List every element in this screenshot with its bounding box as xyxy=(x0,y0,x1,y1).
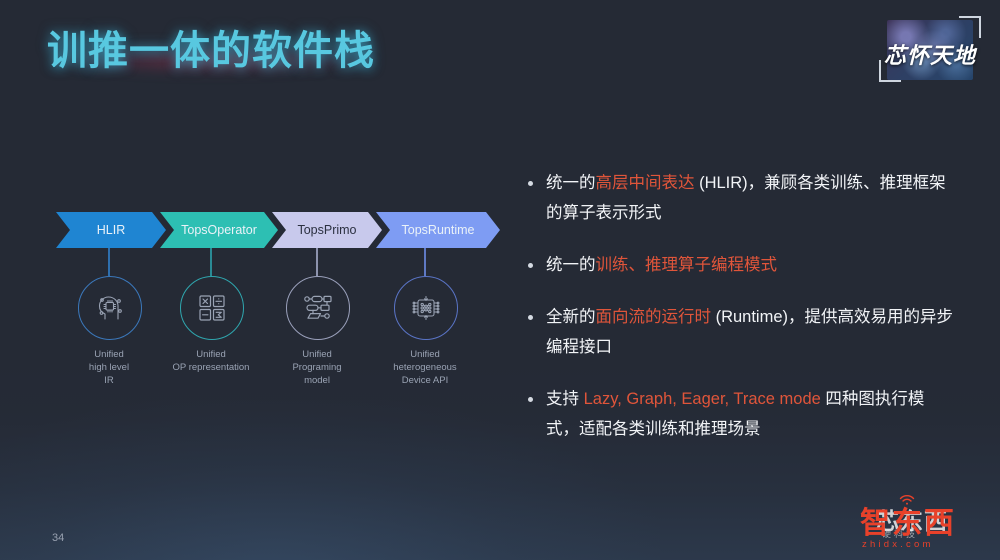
connector-line-topsoperator xyxy=(210,248,212,276)
bullet-marker-icon xyxy=(528,315,533,320)
brand-logo-text: 芯怀天地 xyxy=(875,38,985,70)
bullet-text: 支持 xyxy=(546,390,584,408)
connector-line-hlir xyxy=(108,248,110,276)
stage-icon-circle-topsruntime xyxy=(394,276,458,340)
bullet-text: 统一的 xyxy=(546,174,596,192)
stage-caption-line: heterogeneous xyxy=(355,361,495,374)
bullet-highlight-text: Lazy, Graph, Eager, Trace mode xyxy=(584,390,821,408)
bullet-highlight-text: 训练、推理算子编程模式 xyxy=(596,256,778,274)
bullet-list: 统一的高层中间表达 (HLIR)，兼顾各类训练、推理框架的算子表示形式统一的训练… xyxy=(524,168,954,444)
bullet-marker-icon xyxy=(528,263,533,268)
watermark: 芯东西 硬科技 智东西 zhidx.com xyxy=(856,490,986,552)
pipeline-flow-icon xyxy=(302,293,334,323)
stage-chevron-label: TopsRuntime xyxy=(402,223,475,237)
connector-line-topsruntime xyxy=(424,248,426,276)
stage-chevron-label: TopsOperator xyxy=(181,223,257,237)
bullet-highlight-text: 高层中间表达 xyxy=(596,174,695,192)
stage-icon-circle-topsoperator xyxy=(180,276,244,340)
connector-line-topsprimo xyxy=(316,248,318,276)
stage-icon-circle-hlir xyxy=(78,276,142,340)
bullet-item: 全新的面向流的运行时 (Runtime)，提供高效易用的异步编程接口 xyxy=(524,302,954,362)
bullet-text: 统一的 xyxy=(546,256,596,274)
stage-chevron-row: HLIR TopsOperator TopsPrimo TopsRuntime xyxy=(56,212,496,248)
slide-root: 训推一体的软件栈 芯怀天地 HLIR TopsOperator TopsPrim… xyxy=(0,0,1000,560)
stage-icon-circles xyxy=(56,276,496,342)
stage-icon-circle-topsprimo xyxy=(286,276,350,340)
bullet-item: 统一的高层中间表达 (HLIR)，兼顾各类训练、推理框架的算子表示形式 xyxy=(524,168,954,228)
page-title: 训推一体的软件栈 xyxy=(47,18,375,76)
bullet-marker-icon xyxy=(528,181,533,186)
stage-chevron-label: HLIR xyxy=(97,223,125,237)
stage-caption-line: Unified xyxy=(355,348,495,361)
stage-caption-line: Device API xyxy=(355,374,495,387)
stage-chevron-topsprimo[interactable]: TopsPrimo xyxy=(272,212,382,248)
math-operators-grid-icon xyxy=(196,292,228,324)
stage-caption-line: IR xyxy=(39,374,179,387)
stage-chevron-hlir[interactable]: HLIR xyxy=(56,212,166,248)
neural-chip-icon xyxy=(409,291,443,325)
ai-brain-chip-icon xyxy=(93,291,127,325)
bullet-marker-icon xyxy=(528,397,533,402)
stage-captions: Unified high level IR Unified OP represe… xyxy=(56,348,496,402)
stage-chevron-label: TopsPrimo xyxy=(297,223,356,237)
stage-connector-lines xyxy=(56,248,496,276)
stage-chevron-topsruntime[interactable]: TopsRuntime xyxy=(376,212,500,248)
page-number: 34 xyxy=(52,532,64,544)
bullet-highlight-text: 面向流的运行时 xyxy=(596,308,712,326)
bullet-item: 统一的训练、推理算子编程模式 xyxy=(524,250,954,280)
stage-chevron-topsoperator[interactable]: TopsOperator xyxy=(160,212,278,248)
watermark-domain: zhidx.com xyxy=(862,539,934,550)
wifi-signal-icon xyxy=(898,492,916,504)
bullet-text: 全新的 xyxy=(546,308,596,326)
brand-logo-corner-top-right xyxy=(959,16,981,38)
stage-caption-topsruntime: Unified heterogeneous Device API xyxy=(355,348,495,387)
software-stack-diagram: HLIR TopsOperator TopsPrimo TopsRuntime xyxy=(56,212,496,402)
bullet-item: 支持 Lazy, Graph, Eager, Trace mode 四种图执行模… xyxy=(524,384,954,444)
page-title-container: 训推一体的软件栈 xyxy=(47,18,375,76)
brand-logo: 芯怀天地 xyxy=(875,12,985,88)
